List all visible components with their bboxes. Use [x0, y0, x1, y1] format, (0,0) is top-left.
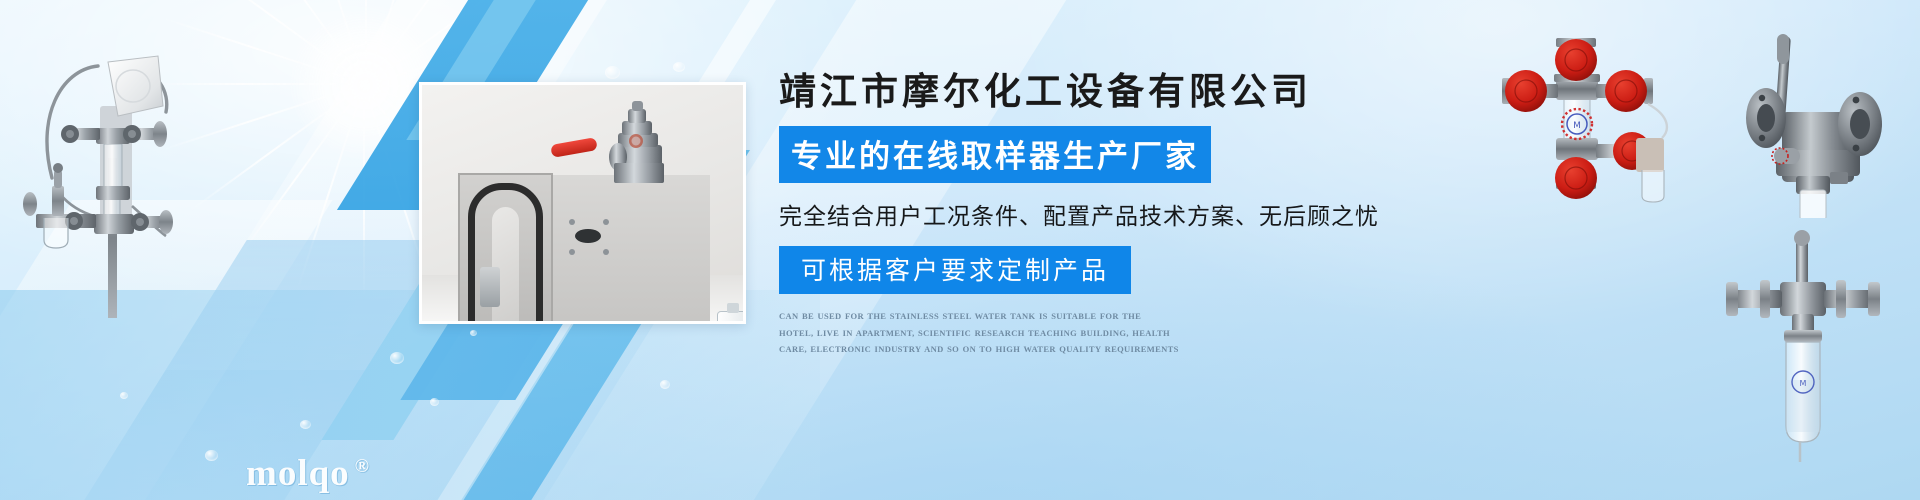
custom-product-badge: 可根据客户要求定制产品	[779, 246, 1131, 294]
sun-core	[290, 10, 440, 160]
equipment-image-right-bottom: M	[1700, 230, 1915, 495]
svg-text:M: M	[1800, 379, 1807, 388]
sub-headline: 完全结合用户工况条件、配置产品技术方案、无后顾之忧	[779, 197, 1399, 231]
water-droplet	[605, 66, 620, 79]
water-droplet	[660, 380, 670, 389]
photo-cabinet-body	[538, 175, 710, 324]
water-droplet	[300, 420, 311, 429]
equipment-image-right-mid	[1720, 18, 1920, 218]
registered-mark-icon: ®	[355, 456, 370, 477]
banner-text-block: 靖江市摩尔化工设备有限公司 专业的在线取样器生产厂家 完全结合用户工况条件、配置…	[779, 72, 1399, 357]
headline-badge: 专业的在线取样器生产厂家	[779, 126, 1211, 183]
equipment-image-right-top: M	[1480, 20, 1710, 205]
product-photo	[419, 82, 746, 324]
photo-sample-bottle	[717, 311, 746, 324]
photo-cabinet-door	[458, 173, 553, 324]
promo-banner: 靖江市摩尔化工设备有限公司 专业的在线取样器生产厂家 完全结合用户工况条件、配置…	[0, 0, 1920, 500]
svg-text:M: M	[1573, 121, 1581, 131]
photo-door-latch	[480, 267, 500, 307]
company-title: 靖江市摩尔化工设备有限公司	[779, 72, 1399, 113]
water-droplet	[673, 62, 685, 72]
watermark-text: molqo	[246, 453, 350, 494]
water-droplet	[205, 450, 218, 461]
equipment-image-left	[0, 18, 200, 318]
photo-sampling-valve	[584, 101, 676, 185]
english-description: CAN BE USED FOR THE STAINLESS STEEL WATE…	[779, 308, 1179, 357]
water-droplet	[120, 392, 128, 399]
watermark-logo: molqo®	[246, 452, 370, 495]
